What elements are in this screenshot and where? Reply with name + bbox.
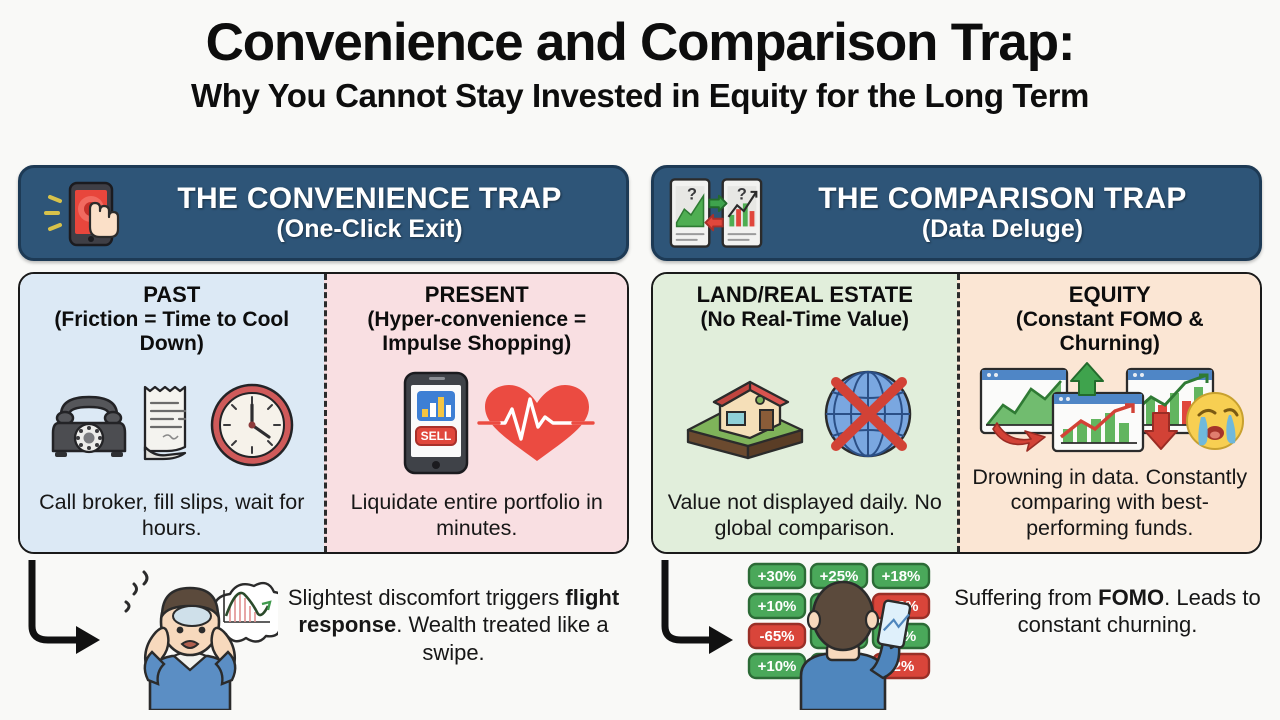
trap-comparison: ? ? bbox=[651, 165, 1262, 554]
svg-text:?: ? bbox=[737, 186, 747, 204]
land-illustration bbox=[661, 332, 949, 491]
past-title: PAST bbox=[143, 283, 200, 308]
equity-subtitle: (Constant FOMO & Churning) bbox=[968, 308, 1253, 355]
present-subtitle: (Hyper-convenience = Impulse Shopping) bbox=[335, 308, 620, 355]
person-with-returns-board-icon: +30% +25% +18% +10% +5% -13% bbox=[743, 560, 953, 710]
equity-description: Drowning in data. Constantly comparing w… bbox=[968, 465, 1253, 544]
land-description: Value not displayed daily. No global com… bbox=[661, 490, 949, 544]
svg-text:+10%: +10% bbox=[758, 658, 797, 675]
column-equity: EQUITY (Constant FOMO & Churning) bbox=[957, 274, 1261, 552]
past-description: Call broker, fill slips, wait for hours. bbox=[28, 490, 316, 544]
convenience-card: PAST (Friction = Time to Cool Down) bbox=[18, 272, 629, 554]
column-present: PRESENT (Hyper-convenience = Impulse Sho… bbox=[324, 274, 628, 552]
rotary-phone-icon bbox=[53, 397, 125, 457]
convenience-subtitle: (One-Click Exit) bbox=[131, 216, 608, 242]
footer-text-before: Suffering from bbox=[954, 585, 1098, 610]
crossed-globe-icon bbox=[826, 372, 910, 456]
phone-tap-icon bbox=[35, 173, 131, 253]
convenience-header-bar: THE CONVENIENCE TRAP (One-Click Exit) bbox=[18, 165, 629, 261]
stressed-person-icon bbox=[110, 560, 278, 710]
comparison-subtitle: (Data Deluge) bbox=[764, 216, 1241, 242]
page-title: Convenience and Comparison Trap: bbox=[0, 16, 1280, 70]
equity-illustration bbox=[968, 355, 1253, 464]
compare-documents-icon: ? ? bbox=[668, 173, 764, 253]
svg-text:-65%: -65% bbox=[759, 628, 794, 645]
comparison-footer: +30% +25% +18% +10% +5% -13% bbox=[651, 560, 1262, 710]
page-subtitle: Why You Cannot Stay Invested in Equity f… bbox=[0, 79, 1280, 114]
up-arrow-icon bbox=[1071, 363, 1103, 395]
house-on-plot-icon bbox=[688, 382, 802, 458]
wall-clock-icon bbox=[212, 385, 292, 465]
footer-text-before: Slightest discomfort triggers bbox=[288, 585, 566, 610]
svg-text:+18%: +18% bbox=[882, 568, 921, 585]
trap-convenience: THE CONVENIENCE TRAP (One-Click Exit) PA… bbox=[18, 165, 629, 554]
land-title: LAND/REAL ESTATE bbox=[697, 283, 913, 308]
past-subtitle: (Friction = Time to Cool Down) bbox=[28, 308, 316, 355]
convenience-header-text: THE CONVENIENCE TRAP (One-Click Exit) bbox=[131, 184, 618, 243]
infographic-page: Convenience and Comparison Trap: Why You… bbox=[0, 0, 1280, 720]
crying-face-icon bbox=[1187, 393, 1243, 449]
smartphone-sell-icon: SELL bbox=[405, 373, 467, 473]
past-illustration bbox=[28, 355, 316, 490]
column-land-real-estate: LAND/REAL ESTATE (No Real-Time Value) bbox=[653, 274, 957, 552]
paper-form-icon bbox=[145, 387, 185, 459]
title-block: Convenience and Comparison Trap: Why You… bbox=[0, 0, 1280, 114]
svg-text:+10%: +10% bbox=[758, 598, 797, 615]
trap-panels: THE CONVENIENCE TRAP (One-Click Exit) PA… bbox=[0, 165, 1280, 554]
convenience-footer-text: Slightest discomfort triggers flight res… bbox=[278, 560, 629, 666]
comparison-title: THE COMPARISON TRAP bbox=[764, 184, 1241, 215]
comparison-header-bar: ? ? bbox=[651, 165, 1262, 261]
footer-text-after: . Wealth treated like a swipe. bbox=[396, 612, 608, 664]
equity-title: EQUITY bbox=[1069, 283, 1151, 308]
sell-button-label: SELL bbox=[420, 429, 451, 443]
land-subtitle: (No Real-Time Value) bbox=[700, 308, 909, 332]
present-description: Liquidate entire portfolio in minutes. bbox=[335, 490, 620, 544]
convenience-footer: Slightest discomfort triggers flight res… bbox=[18, 560, 629, 710]
footer-row: Slightest discomfort triggers flight res… bbox=[0, 560, 1280, 710]
svg-text:+30%: +30% bbox=[758, 568, 797, 585]
convenience-title: THE CONVENIENCE TRAP bbox=[131, 184, 608, 215]
elbow-arrow-left-icon bbox=[18, 560, 110, 670]
comparison-card: LAND/REAL ESTATE (No Real-Time Value) bbox=[651, 272, 1262, 554]
comparison-footer-text: Suffering from FOMO. Leads to constant c… bbox=[953, 560, 1262, 639]
column-past: PAST (Friction = Time to Cool Down) bbox=[20, 274, 324, 552]
footer-text-bold: FOMO bbox=[1098, 585, 1164, 610]
present-illustration: SELL bbox=[335, 355, 620, 490]
svg-text:?: ? bbox=[687, 186, 697, 204]
heartbeat-icon bbox=[479, 385, 593, 461]
elbow-arrow-right-icon bbox=[651, 560, 743, 670]
present-title: PRESENT bbox=[425, 283, 529, 308]
comparison-header-text: THE COMPARISON TRAP (Data Deluge) bbox=[764, 184, 1251, 243]
